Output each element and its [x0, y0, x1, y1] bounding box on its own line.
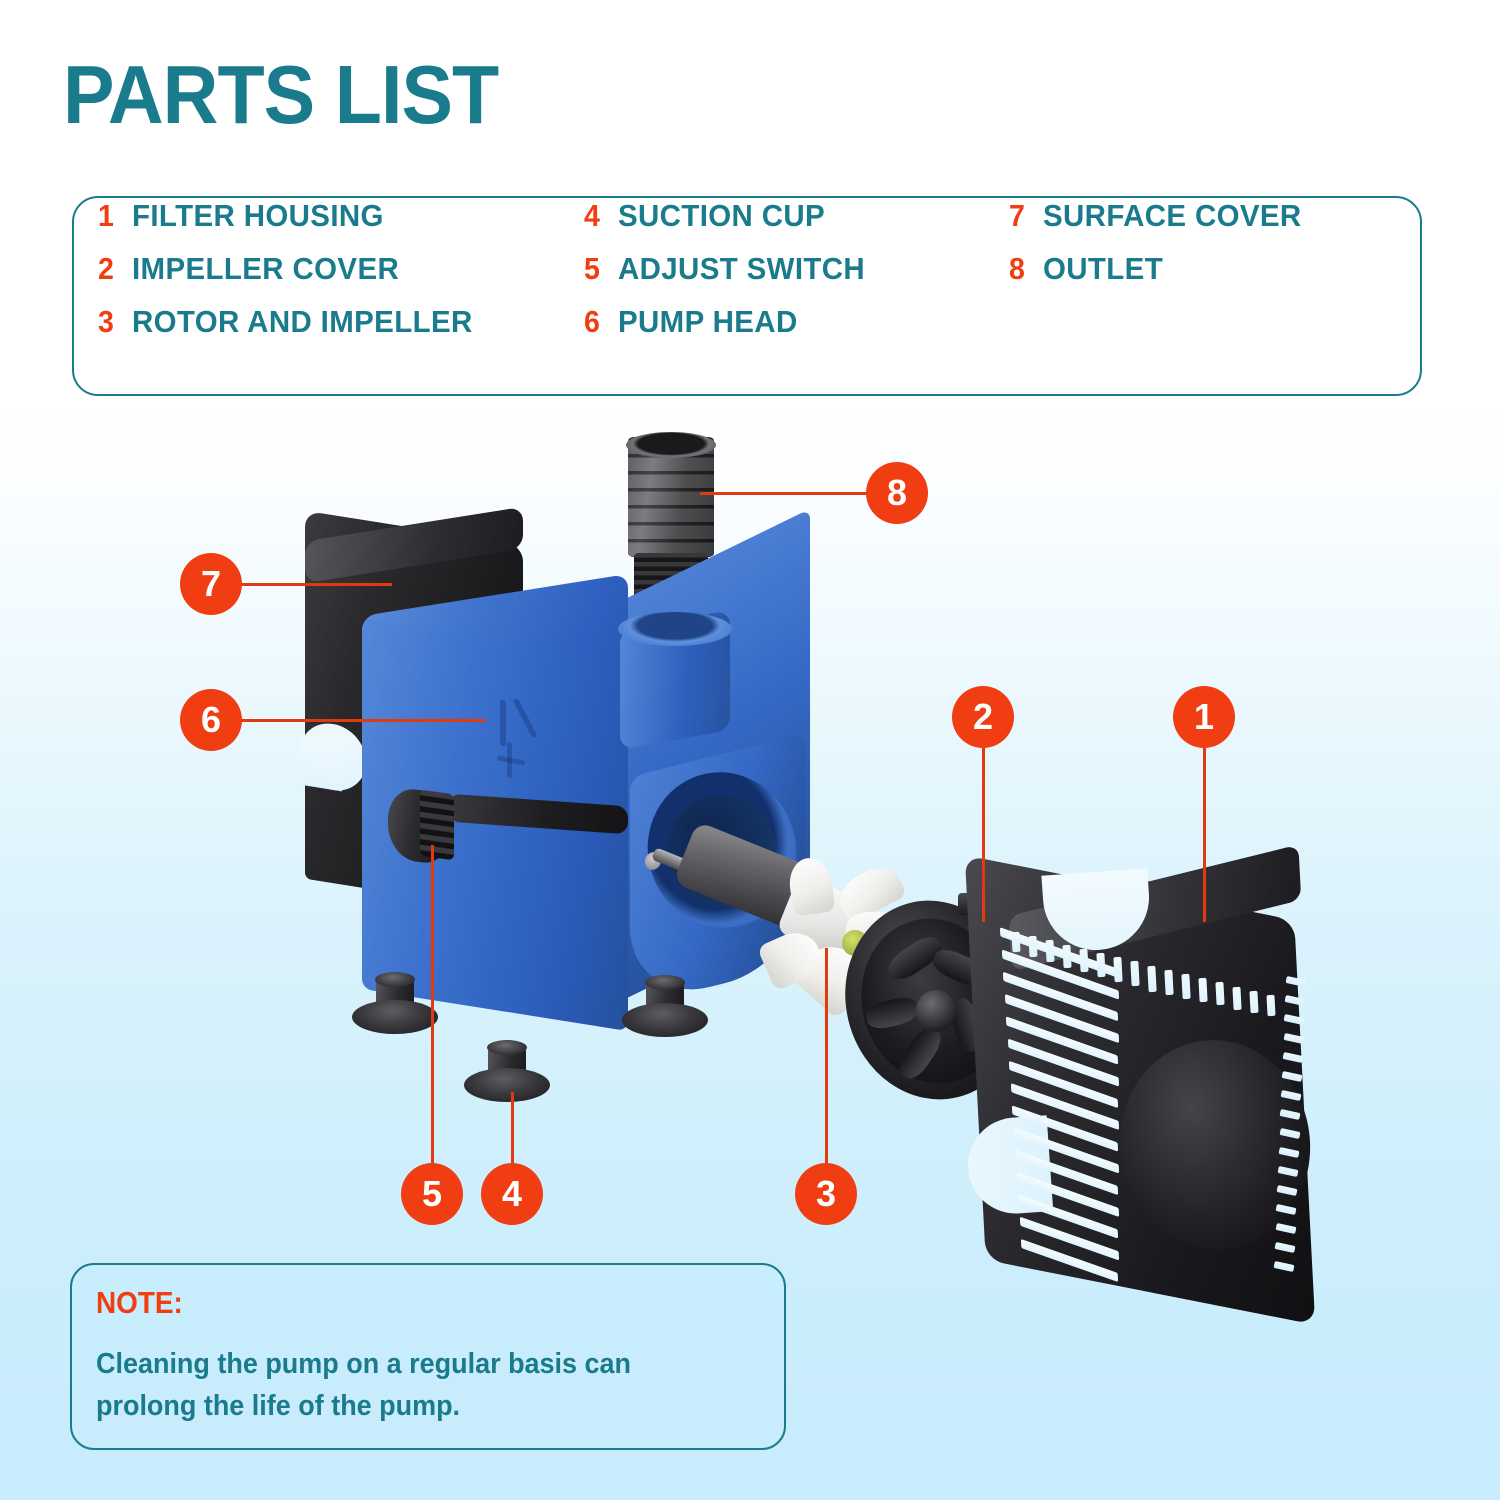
callout-leader-3	[825, 948, 828, 1165]
callout-leader-2	[982, 740, 985, 922]
callout-badge-7[interactable]: 7	[180, 553, 242, 615]
callout-badge-6[interactable]: 6	[180, 689, 242, 751]
callout-leader-4	[511, 1092, 514, 1165]
callout-leader-6	[232, 719, 486, 722]
callout-leader-1	[1203, 740, 1206, 922]
callout-badge-3[interactable]: 3	[795, 1163, 857, 1225]
filter-housing-slot	[1181, 974, 1190, 999]
impeller-cover-hub	[916, 990, 956, 1032]
callout-badge-4[interactable]: 4	[481, 1163, 543, 1225]
filter-housing-slot	[1198, 978, 1207, 1002]
filter-housing-slot	[1028, 936, 1037, 957]
filter-housing-slot	[1164, 970, 1173, 996]
pump-head-neck-ring	[618, 612, 732, 646]
filter-housing-slot	[1266, 995, 1275, 1016]
callout-badge-1[interactable]: 1	[1173, 686, 1235, 748]
callout-leader-5	[431, 845, 434, 1165]
callout-badge-5[interactable]: 5	[401, 1163, 463, 1225]
adjust-switch-ridges	[420, 790, 454, 861]
filter-housing-slot	[1249, 991, 1258, 1013]
pump-head-emboss-mark	[507, 742, 512, 779]
filter-housing-slot	[1215, 982, 1224, 1006]
filter-housing-slot	[1062, 944, 1071, 967]
filter-housing-slot	[1130, 961, 1139, 987]
pump-head-emboss-mark	[500, 699, 506, 746]
callout-badge-2[interactable]: 2	[952, 686, 1014, 748]
filter-housing-slot	[1096, 953, 1105, 977]
parts-list-infographic: PARTS LIST 1 FILTER HOUSING 2 IMPELLER C…	[0, 0, 1500, 1500]
filter-housing-slot	[1045, 940, 1054, 962]
callout-badge-8[interactable]: 8	[866, 462, 928, 524]
filter-housing-slot	[1113, 957, 1122, 982]
outlet-opening	[626, 432, 716, 458]
surface-cover-notch-inner	[300, 739, 342, 792]
filter-housing-slot	[1079, 949, 1088, 973]
filter-housing-slot	[1011, 932, 1020, 953]
filter-housing-slot	[1232, 986, 1241, 1009]
callout-leader-7	[232, 583, 392, 586]
callout-leader-8	[700, 492, 874, 495]
exploded-pump-diagram	[0, 0, 1500, 1500]
filter-housing-slot	[1147, 965, 1156, 991]
